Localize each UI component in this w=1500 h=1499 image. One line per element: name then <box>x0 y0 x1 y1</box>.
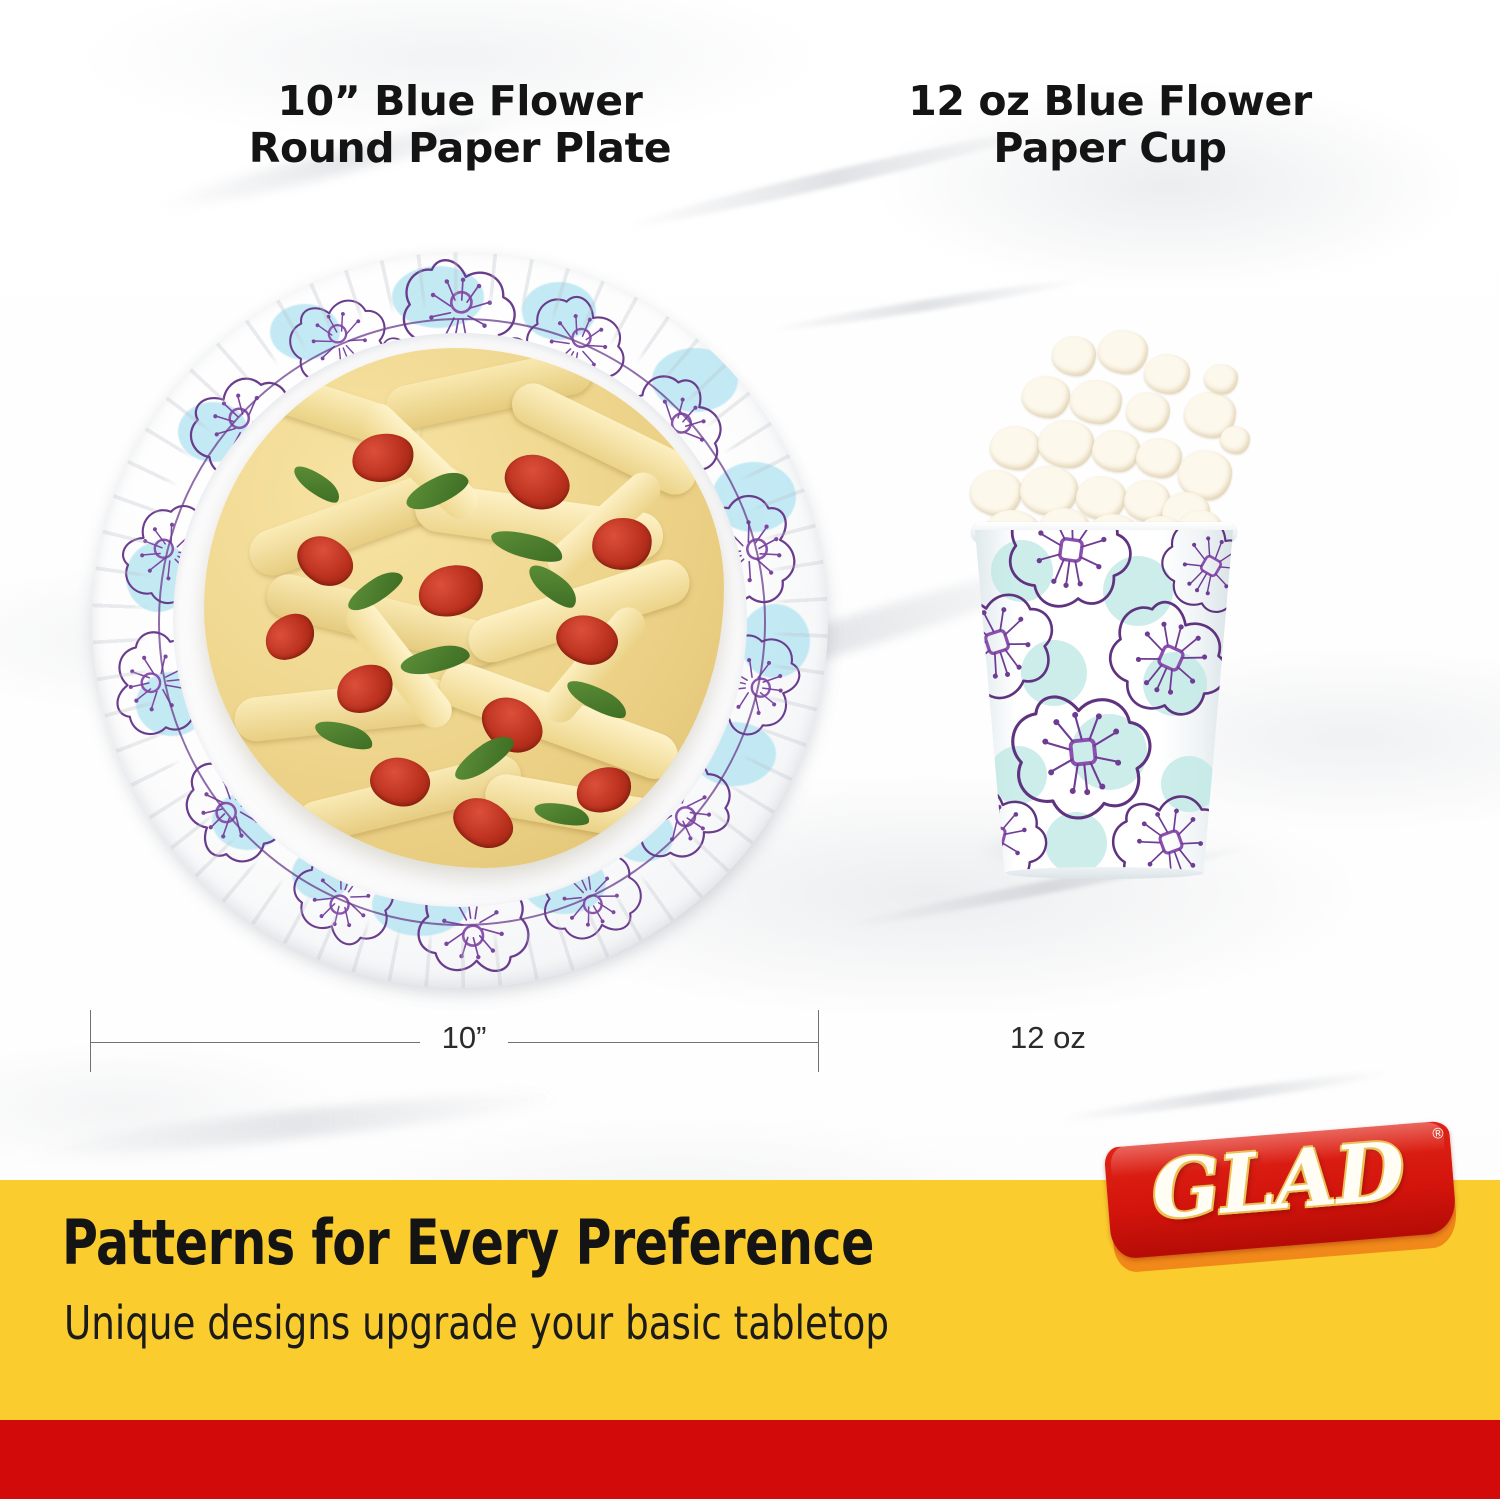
banner-title: Patterns for Every Preference <box>62 1212 968 1274</box>
banner-subtitle: Unique designs upgrade your basic tablet… <box>64 1300 1054 1346</box>
glad-logo: GLAD ® <box>1101 1114 1463 1278</box>
paper-plate <box>92 252 828 988</box>
cup-size-label: 12 oz <box>1010 1020 1250 1056</box>
plate-heading: 10” Blue Flower Round Paper Plate <box>150 78 770 171</box>
plate-size-label: 10” <box>424 1020 504 1056</box>
red-footer-bar <box>0 1420 1500 1499</box>
plate-heading-line1: 10” Blue Flower <box>150 78 770 125</box>
cup-body <box>975 530 1233 875</box>
cup-heading: 12 oz Blue Flower Paper Cup <box>860 78 1360 171</box>
dimension-line-left <box>90 1042 420 1043</box>
plate-dimension-line: 10” <box>90 1010 820 1076</box>
dimension-cap-left <box>90 1010 91 1072</box>
cup-heading-line1: 12 oz Blue Flower <box>860 78 1360 125</box>
cup-flower-pattern <box>975 530 1233 875</box>
dimension-cap-right <box>818 1010 819 1072</box>
pasta-food <box>204 348 724 868</box>
paper-plate-product <box>92 252 832 992</box>
cup-heading-line2: Paper Cup <box>860 125 1360 172</box>
paper-cup-product <box>930 330 1290 900</box>
product-marketing-image: 10” Blue Flower Round Paper Plate 12 oz … <box>0 0 1500 1499</box>
cup-bottom <box>1005 867 1203 879</box>
dimension-line-right <box>508 1042 819 1043</box>
plate-heading-line2: Round Paper Plate <box>150 125 770 172</box>
logo-registered-mark: ® <box>1432 1125 1444 1143</box>
